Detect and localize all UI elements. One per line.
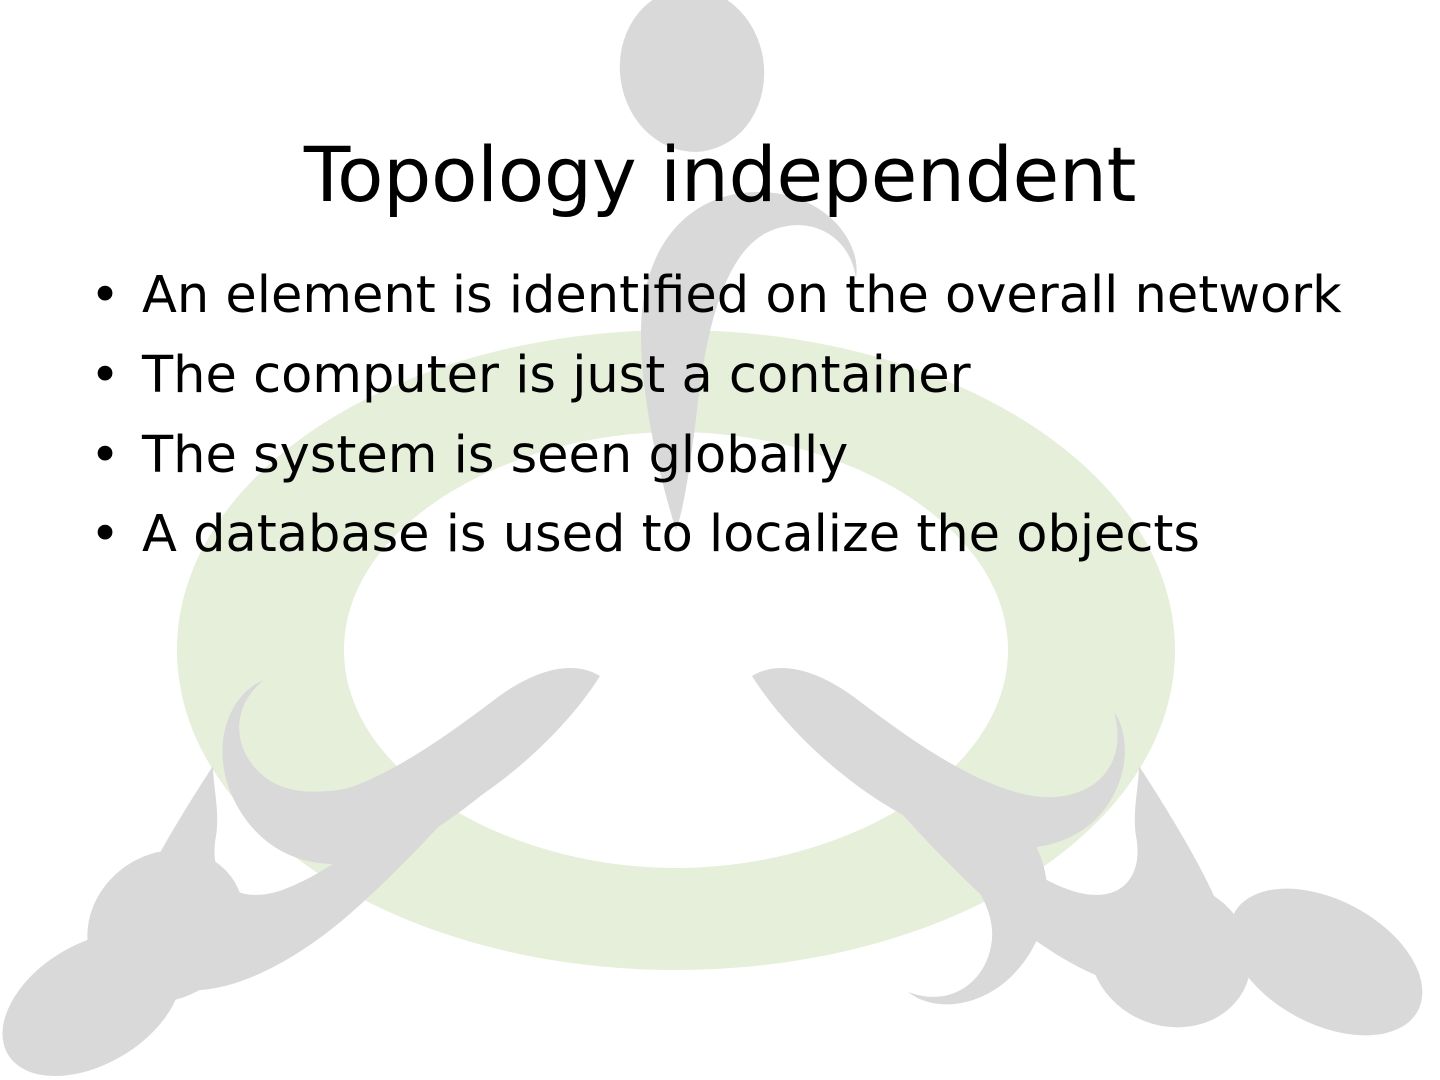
bullet-item-1: • An element is identified on the overal… <box>84 262 1384 330</box>
bullet-item-3: • The system is seen globally <box>84 422 1384 490</box>
bullet-point-icon: • <box>90 342 120 410</box>
bullet-item-2-text: The computer is just a container <box>142 342 1384 410</box>
bullet-point-icon: • <box>90 422 120 490</box>
bullet-item-3-text: The system is seen globally <box>142 422 1384 490</box>
bullet-item-4-text: A database is used to localize the objec… <box>142 501 1384 569</box>
bullet-item-1-text: An element is identified on the overall … <box>142 262 1384 330</box>
bullet-list: • An element is identified on the overal… <box>84 262 1384 581</box>
bullet-item-2: • The computer is just a container <box>84 342 1384 410</box>
slide-content: Topology independent • An element is ide… <box>0 0 1440 1080</box>
slide-title: Topology independent <box>0 137 1440 213</box>
presentation-slide: Topology independent • An element is ide… <box>0 0 1440 1080</box>
bullet-point-icon: • <box>90 262 120 330</box>
bullet-point-icon: • <box>90 501 120 569</box>
bullet-item-4: • A database is used to localize the obj… <box>84 501 1384 569</box>
